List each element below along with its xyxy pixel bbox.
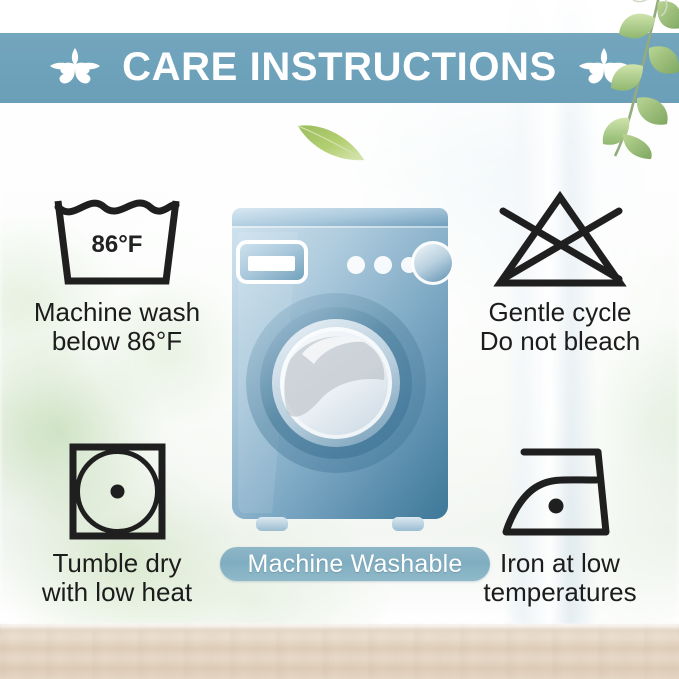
fleur-de-lis-left-icon xyxy=(46,44,104,93)
table-edge-highlight xyxy=(0,624,679,631)
care-caption-machine-wash: Machine wash below 86°F xyxy=(2,298,232,356)
indicator-dot xyxy=(374,256,392,274)
caption-line-1: Tumble dry xyxy=(52,548,181,578)
washing-machine-icon xyxy=(228,208,452,538)
care-symbol-machine-wash: 86°F Machine wash below 86°F xyxy=(2,186,232,356)
fleur-de-lis-right-icon xyxy=(575,44,633,93)
wash-temperature-label: 86°F xyxy=(92,231,143,258)
indicator-dot xyxy=(347,256,365,274)
badge-label: Machine Washable xyxy=(248,552,463,577)
caption-line-2: below 86°F xyxy=(2,327,232,356)
machine-foot xyxy=(392,517,424,531)
care-symbol-do-not-bleach: Gentle cycle Do not bleach xyxy=(445,186,675,356)
care-symbol-iron-low: Iron at low temperatures xyxy=(445,437,675,607)
caption-line-1: Gentle cycle xyxy=(488,297,631,327)
machine-washable-badge: Machine Washable xyxy=(220,547,490,581)
caption-line-1: Iron at low xyxy=(500,548,620,578)
care-instructions-graphic: CARE INSTRUCTIONS xyxy=(0,0,679,679)
machine-foot xyxy=(256,517,288,531)
caption-line-1: Machine wash xyxy=(34,297,200,327)
care-caption-do-not-bleach: Gentle cycle Do not bleach xyxy=(445,298,675,356)
care-caption-tumble-dry: Tumble dry with low heat xyxy=(2,549,232,607)
wood-table-surface xyxy=(0,624,679,679)
header-banner: CARE INSTRUCTIONS xyxy=(0,33,679,103)
tumble-dry-square-icon xyxy=(2,437,232,547)
iron-one-dot-icon xyxy=(445,437,675,547)
caption-line-2: Do not bleach xyxy=(445,327,675,356)
wash-tub-icon: 86°F xyxy=(2,186,232,296)
page-title: CARE INSTRUCTIONS xyxy=(122,47,557,89)
triangle-crossed-out-icon xyxy=(445,186,675,296)
care-symbol-tumble-dry: Tumble dry with low heat xyxy=(2,437,232,607)
caption-line-2: temperatures xyxy=(445,578,675,607)
wood-grain-texture xyxy=(0,624,679,679)
caption-line-2: with low heat xyxy=(2,578,232,607)
